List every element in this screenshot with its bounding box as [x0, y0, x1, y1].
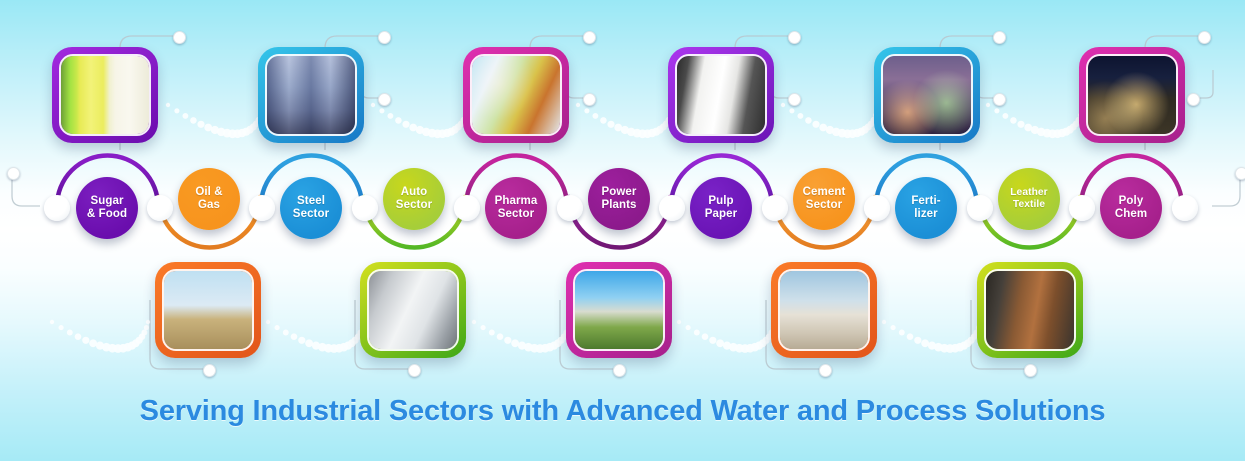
decorative-bead [536, 344, 545, 353]
decorative-bead [312, 341, 320, 349]
decorative-bead [59, 325, 64, 330]
decorative-bead [541, 344, 550, 353]
decorative-bead [946, 344, 955, 353]
decorative-bead [1024, 124, 1032, 132]
decorative-bead [371, 103, 375, 107]
decorative-bead [741, 344, 750, 353]
connector-pearl [147, 195, 173, 221]
decorative-bead [428, 129, 437, 138]
decorative-bead [967, 337, 974, 344]
decorative-bead [614, 124, 622, 132]
sector-node-label-line2: Chem [1115, 208, 1147, 221]
decorative-bead [762, 337, 769, 344]
decorative-bead [67, 330, 73, 336]
decorative-bead [1070, 123, 1077, 130]
decorative-bead [797, 113, 803, 119]
decorative-bead [1066, 126, 1074, 134]
decorative-bead [489, 330, 495, 336]
decorative-bead [891, 325, 896, 330]
decorative-bead [379, 108, 384, 113]
decorative-bead [652, 128, 660, 136]
photo-frame [162, 269, 254, 351]
decorative-bead [497, 333, 504, 340]
photo-frame [59, 54, 151, 136]
decorative-bead [557, 337, 564, 344]
paper-roll-machine-photo [677, 56, 765, 134]
decorative-bead [694, 330, 700, 336]
decorative-bead [848, 129, 857, 138]
sector-node-oil-gas[interactable]: Oil &Gas [178, 168, 240, 230]
decorative-bead [627, 128, 636, 137]
decorative-bead [204, 124, 212, 132]
decorative-bead [395, 117, 402, 124]
decorative-bead [89, 339, 97, 347]
decorative-bead [1010, 117, 1017, 124]
photo-card-power-plants[interactable] [566, 262, 672, 358]
decorative-bead [344, 341, 352, 349]
leader-dot [378, 31, 391, 44]
decorative-bead [964, 339, 972, 347]
decorative-bead [128, 341, 136, 349]
photo-card-auto-sector[interactable] [360, 262, 466, 358]
decorative-bead [1053, 129, 1062, 138]
photo-card-fertilizer[interactable] [874, 47, 980, 143]
decorative-bead [956, 343, 965, 352]
sector-node-pulp-paper[interactable]: PulpPaper [690, 177, 752, 239]
decorative-bead [96, 341, 104, 349]
sector-node-label-line2: Sector [495, 208, 538, 221]
decorative-bead [119, 344, 128, 353]
connector-pearl [762, 195, 788, 221]
decorative-bead [233, 129, 242, 138]
decorative-bead [524, 343, 533, 352]
decorative-bead [455, 123, 462, 130]
leader-dot [993, 31, 1006, 44]
decorative-bead [174, 108, 179, 113]
decorative-bead [928, 341, 936, 349]
decorative-bead [409, 124, 417, 132]
decorative-bead [291, 333, 298, 340]
photo-frame [1086, 54, 1178, 136]
decorative-bead [50, 320, 54, 324]
decorative-bead [190, 117, 197, 124]
decorative-bead [554, 339, 562, 347]
sector-node-label-line2: Sector [803, 199, 846, 212]
sector-node-poly-chem[interactable]: PolyChem [1100, 177, 1162, 239]
decorative-bead [511, 339, 519, 347]
decorative-bead [826, 126, 834, 134]
sector-node-label-line1: Auto [396, 186, 432, 199]
sector-node-label-line1: Pharma [495, 195, 538, 208]
decorative-bead [584, 108, 589, 113]
decorative-bead [861, 126, 869, 134]
decorative-bead [1037, 128, 1046, 137]
photo-frame [367, 269, 459, 351]
decorative-bead [82, 337, 89, 344]
sector-node-label-line2: lizer [911, 208, 940, 221]
sector-node-cement-sector[interactable]: CementSector [793, 168, 855, 230]
petrochemical-refinery-photo [1088, 56, 1176, 134]
decorative-bead [283, 330, 289, 336]
leader-dot [203, 364, 216, 377]
decorative-bead [75, 333, 82, 340]
sector-node-label-line2: Sector [396, 199, 432, 212]
decorative-bead [759, 339, 767, 347]
decorative-bead [422, 128, 431, 137]
decorative-bead [832, 128, 841, 137]
decorative-bead [1048, 129, 1057, 138]
decorative-bead [812, 121, 819, 128]
sector-node-sugar-food[interactable]: Sugar& Food [76, 177, 138, 239]
decorative-bead [746, 344, 755, 353]
decorative-bead [266, 320, 270, 324]
decorative-bead [146, 320, 150, 324]
steel-mill-interior-photo [267, 56, 355, 134]
photo-card-steel-sector[interactable] [258, 47, 364, 143]
decorative-bead [211, 126, 219, 134]
decorative-bead [960, 341, 968, 349]
page-headline: Serving Industrial Sectors with Advanced… [0, 395, 1245, 428]
sector-node-pharma-sector[interactable]: PharmaSector [485, 177, 547, 239]
decorative-bead [114, 344, 123, 353]
decorative-bead [819, 124, 827, 132]
sector-node-label-line2: & Food [87, 208, 127, 221]
decorative-bead [709, 337, 716, 344]
decorative-bead [934, 343, 943, 352]
decorative-bead [197, 121, 204, 128]
sector-node-label-line1: Poly [1115, 195, 1147, 208]
sector-node-label-line2: Gas [195, 199, 222, 212]
decorative-bead [781, 103, 785, 107]
decorative-bead [550, 341, 558, 349]
photo-frame [778, 269, 870, 351]
decorative-bead [633, 129, 642, 138]
leader-dot [1187, 93, 1200, 106]
decorative-bead [318, 343, 327, 352]
sector-node-label-line1: Leather [1010, 187, 1048, 199]
decorative-bead [335, 344, 344, 353]
connector-pearl [864, 195, 890, 221]
decorative-bead [1062, 128, 1070, 136]
decorative-bead [472, 320, 476, 324]
decorative-bead [438, 129, 447, 138]
decorative-bead [755, 341, 763, 349]
decorative-bead [735, 344, 744, 353]
sector-node-label-line2: Paper [705, 208, 737, 221]
photo-frame [265, 54, 357, 136]
decorative-bead [751, 343, 760, 352]
decorative-bead [223, 129, 232, 138]
decorative-bead [451, 126, 459, 134]
decorative-bead [882, 320, 886, 324]
decorative-bead [576, 103, 580, 107]
leader-dot [613, 364, 626, 377]
connector-pearl [44, 195, 70, 221]
sector-node-label-line2: Sector [293, 208, 329, 221]
connector-pearl [659, 195, 685, 221]
decorative-bead [789, 108, 794, 113]
leader-dot [819, 364, 832, 377]
photo-frame [470, 54, 562, 136]
sector-node-power-plants[interactable]: PowerPlants [588, 168, 650, 230]
decorative-bead [433, 129, 442, 138]
connector-pearl [454, 195, 480, 221]
decorative-bead [141, 330, 147, 336]
connector-pearl [967, 195, 993, 221]
photo-frame [573, 269, 665, 351]
decorative-bead [139, 333, 146, 340]
leader-dot [408, 364, 421, 377]
leader-dot [788, 93, 801, 106]
oil-pumpjack-photo [164, 271, 252, 349]
decorative-bead [921, 339, 929, 347]
decorative-bead [481, 325, 486, 330]
sector-node-steel-sector[interactable]: SteelSector [280, 177, 342, 239]
connector-pearl [1172, 195, 1198, 221]
decorative-bead [838, 129, 847, 138]
decorative-bead [166, 103, 170, 107]
decorative-bead [305, 339, 313, 347]
sector-node-label-line1: Sugar [87, 195, 127, 208]
decorative-bead [238, 129, 247, 138]
leader-dot [378, 93, 391, 106]
connector-pearl [557, 195, 583, 221]
decorative-bead [443, 129, 452, 138]
decorative-bead [351, 337, 358, 344]
leader-dot [1235, 167, 1245, 180]
leader-dot [173, 31, 186, 44]
sector-node-label-line1: Oil & [195, 186, 222, 199]
sector-node-label-line1: Cement [803, 186, 846, 199]
decorative-bead [600, 117, 607, 124]
decorative-bead [504, 337, 511, 344]
decorative-bead [729, 343, 738, 352]
decorative-bead [592, 113, 598, 119]
photo-frame [675, 54, 767, 136]
leader-dot [1024, 364, 1037, 377]
decorative-bead [1031, 126, 1039, 134]
decorative-bead [530, 344, 539, 353]
decorative-bead [716, 339, 724, 347]
photo-card-pharma-sector[interactable] [463, 47, 569, 143]
sugarcane-field-photo [61, 56, 149, 134]
decorative-bead [677, 320, 681, 324]
decorative-bead [108, 344, 117, 353]
decorative-bead [1002, 113, 1008, 119]
decorative-bead [994, 108, 999, 113]
decorative-bead [242, 128, 250, 136]
decorative-bead [907, 333, 914, 340]
decorative-bead [228, 129, 237, 138]
leader-dot [788, 31, 801, 44]
decorative-bead [914, 337, 921, 344]
leader-dot [583, 93, 596, 106]
photo-card-leather-textile[interactable] [977, 262, 1083, 358]
decorative-bead [182, 113, 188, 119]
decorative-bead [723, 341, 731, 349]
decorative-bead [643, 129, 652, 138]
decorative-bead [940, 344, 949, 353]
sector-node-label-line2: Plants [601, 199, 636, 212]
power-plant-cooling-towers-photo [575, 271, 663, 349]
decorative-bead [217, 128, 226, 137]
connector-pearl [352, 195, 378, 221]
decorative-bead [387, 113, 393, 119]
photo-card-sugar-food[interactable] [52, 47, 158, 143]
sector-node-leather-textile[interactable]: LeatherTextile [998, 168, 1060, 230]
decorative-bead [857, 128, 865, 136]
decorative-bead [607, 121, 614, 128]
decorative-bead [298, 337, 305, 344]
sector-node-label-line1: Ferti- [911, 195, 940, 208]
leader-dot [1198, 31, 1211, 44]
decorative-bead [648, 129, 657, 138]
decorative-bead [340, 343, 349, 352]
decorative-bead [246, 126, 254, 134]
decorative-bead [518, 341, 526, 349]
photo-card-pulp-paper[interactable] [668, 47, 774, 143]
decorative-bead [951, 344, 960, 353]
connector-pearl [1069, 195, 1095, 221]
decorative-bead [402, 121, 409, 128]
car-body-press-photo [369, 271, 457, 349]
decorative-bead [1017, 121, 1024, 128]
leader-dot [993, 93, 1006, 106]
fertilizer-plant-night-photo [883, 56, 971, 134]
leader-dot [583, 31, 596, 44]
decorative-bead [324, 344, 333, 353]
decorative-bead [843, 129, 852, 138]
decorative-bead [686, 325, 691, 330]
decorative-bead [621, 126, 629, 134]
sector-node-label-line2: Textile [1010, 199, 1048, 211]
sector-node-fertilizer[interactable]: Ferti-lizer [895, 177, 957, 239]
sector-node-label-line1: Pulp [705, 195, 737, 208]
decorative-bead [348, 339, 356, 347]
leader-dot [7, 167, 20, 180]
sector-node-label-line1: Steel [293, 195, 329, 208]
decorative-bead [250, 123, 257, 130]
photo-card-cement-sector[interactable] [771, 262, 877, 358]
decorative-bead [986, 103, 990, 107]
photo-card-oil-gas[interactable] [155, 262, 261, 358]
leather-hides-rack-photo [986, 271, 1074, 349]
decorative-bead [702, 333, 709, 340]
decorative-bead [135, 337, 142, 344]
decorative-bead [656, 126, 664, 134]
infographic-stage: Sugar& FoodOil &GasSteelSectorAutoSector… [0, 0, 1245, 461]
decorative-bead [416, 126, 424, 134]
decorative-bead [660, 123, 667, 130]
decorative-bead [1043, 129, 1052, 138]
decorative-bead [330, 344, 339, 353]
photo-frame [881, 54, 973, 136]
decorative-bead [132, 339, 140, 347]
connector-pearl [249, 195, 275, 221]
decorative-bead [865, 123, 872, 130]
decorative-bead [144, 325, 149, 330]
photo-frame [984, 269, 1076, 351]
cement-silo-plant-photo [780, 271, 868, 349]
decorative-bead [899, 330, 905, 336]
decorative-bead [546, 343, 555, 352]
photo-card-poly-chem[interactable] [1079, 47, 1185, 143]
sector-node-label-line1: Power [601, 186, 636, 199]
decorative-bead [275, 325, 280, 330]
decorative-bead [124, 343, 133, 352]
decorative-bead [638, 129, 647, 138]
decorative-bead [447, 128, 455, 136]
decorative-bead [1058, 129, 1067, 138]
decorative-bead [805, 117, 812, 124]
decorative-bead [853, 129, 862, 138]
connector-arcs [0, 0, 1245, 461]
pharmaceutical-vials-photo [472, 56, 560, 134]
sector-node-auto-sector[interactable]: AutoSector [383, 168, 445, 230]
decorative-bead [102, 343, 111, 352]
